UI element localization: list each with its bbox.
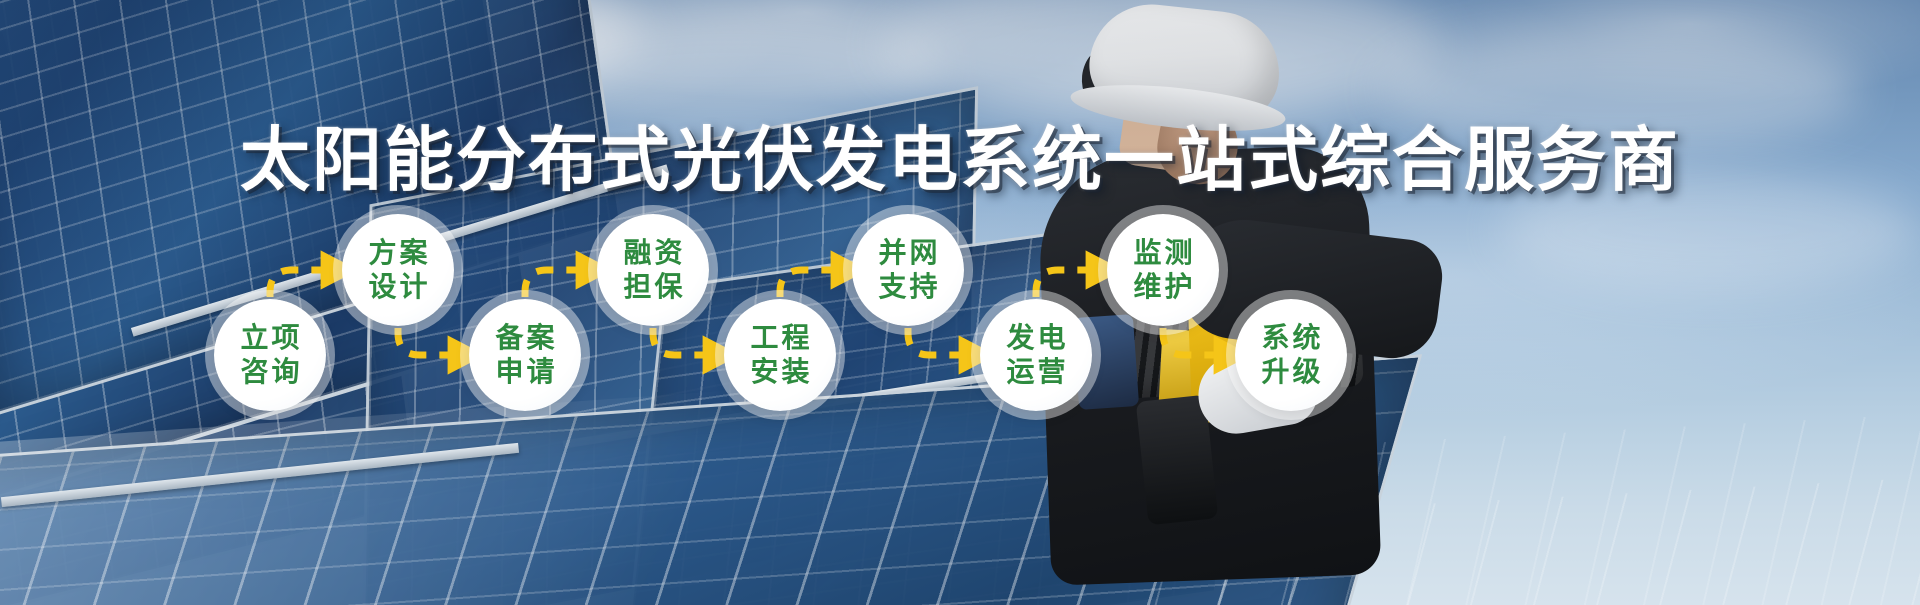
flow-node-n2[interactable]: 方案设计: [342, 214, 454, 326]
flow-arrow-n8-to-n9: [1163, 328, 1229, 355]
flow-node-label-line2: 安装: [747, 355, 812, 389]
flow-node-label-line1: 监测: [1130, 236, 1195, 270]
flow-arrow-n3-to-n4: [525, 270, 591, 297]
flow-arrow-n6-to-n7: [908, 328, 974, 355]
flow-node-n4[interactable]: 融资担保: [597, 214, 709, 326]
flow-node-label-line1: 立项: [237, 321, 302, 355]
flow-node-label-line1: 系统: [1258, 321, 1323, 355]
flow-node-n5[interactable]: 工程安装: [724, 299, 836, 411]
flow-node-n8[interactable]: 监测维护: [1107, 214, 1219, 326]
flow-arrow-n4-to-n5: [653, 328, 718, 355]
flow-node-n1[interactable]: 立项咨询: [214, 299, 326, 411]
flow-node-label-line2: 运营: [1003, 355, 1068, 389]
flow-node-label-line2: 升级: [1258, 355, 1323, 389]
flow-node-label-line2: 支持: [875, 270, 940, 304]
service-flow-diagram: 立项咨询方案设计备案申请融资担保工程安装并网支持发电运营监测维护系统升级: [0, 0, 1920, 605]
flow-node-label-line1: 备案: [492, 321, 557, 355]
flow-node-n7[interactable]: 发电运营: [980, 299, 1092, 411]
flow-node-label-line2: 担保: [620, 270, 685, 304]
flow-arrow-n1-to-n2: [270, 270, 336, 297]
flow-node-label-line2: 咨询: [237, 355, 302, 389]
flow-node-n6[interactable]: 并网支持: [852, 214, 964, 326]
flow-node-label-line1: 方案: [365, 236, 430, 270]
flow-node-n3[interactable]: 备案申请: [469, 299, 581, 411]
flow-arrow-n2-to-n3: [398, 328, 463, 355]
flow-node-label-line1: 并网: [875, 236, 940, 270]
flow-node-label-line2: 申请: [492, 355, 557, 389]
flow-node-label-line2: 维护: [1130, 270, 1195, 304]
flow-node-n9[interactable]: 系统升级: [1235, 299, 1347, 411]
flow-node-label-line1: 发电: [1003, 321, 1068, 355]
flow-arrow-n5-to-n6: [780, 270, 846, 297]
solar-service-banner: 太阳能分布式光伏发电系统一站式综合服务商 立项咨询方案设计备案申请融资担保工程安…: [0, 0, 1920, 605]
flow-node-label-line2: 设计: [365, 270, 430, 304]
flow-arrow-n7-to-n8: [1036, 270, 1101, 297]
flow-node-label-line1: 融资: [620, 236, 685, 270]
flow-node-label-line1: 工程: [747, 321, 812, 355]
